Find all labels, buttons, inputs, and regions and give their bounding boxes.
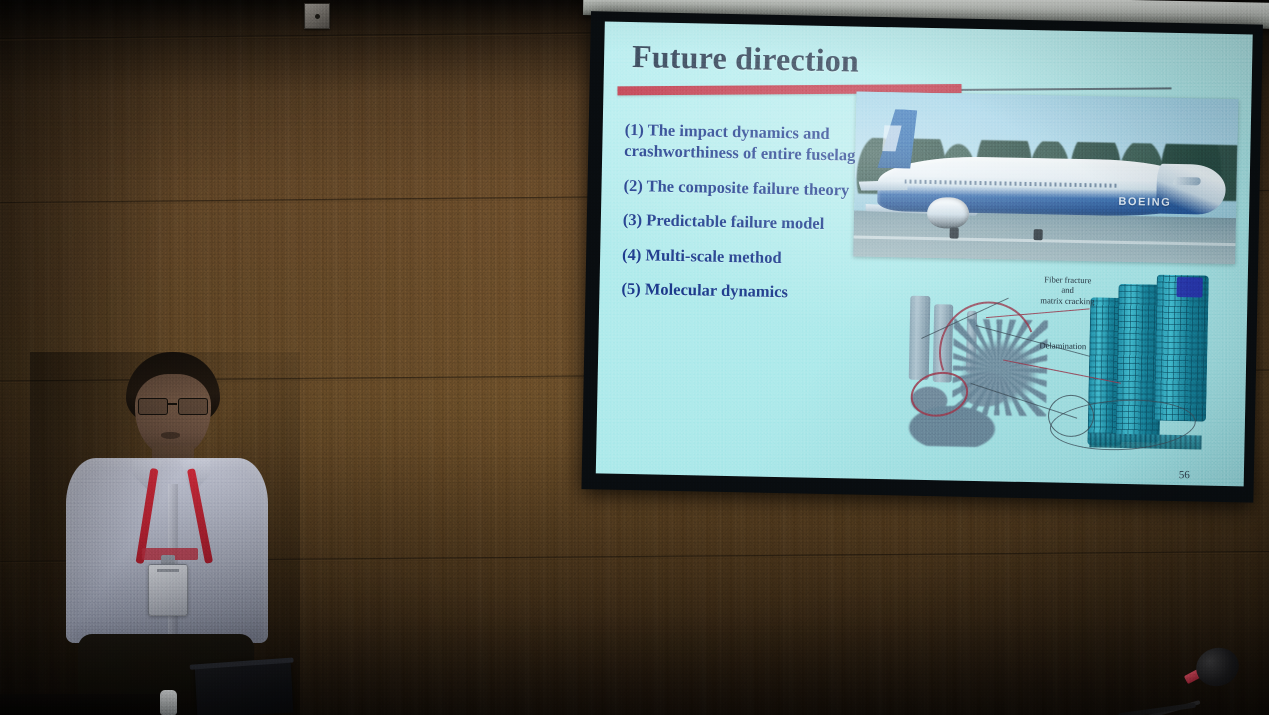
foreground-desk-shadow [0, 694, 160, 715]
presentation-slide: Future direction (1) The impact dynamics… [596, 21, 1253, 486]
annotation-delamination: Delamination [1039, 340, 1086, 351]
presenter-face [135, 374, 211, 456]
aircraft-landing-gear [949, 228, 958, 239]
slide-number: 56 [1179, 469, 1190, 481]
annotation-line: Fiber fracture [1041, 274, 1095, 286]
simulation-figure: Fiber fracture and matrix cracking Delam… [851, 265, 1243, 468]
aircraft-engine [926, 197, 969, 229]
composite-tube [909, 296, 931, 380]
presenter-mouth [161, 432, 180, 439]
aircraft-landing-gear [1033, 229, 1042, 240]
lecture-hall-scene: Future direction (1) The impact dynamics… [0, 0, 1269, 715]
slide-title: Future direction [632, 38, 860, 80]
presenter-laptop [195, 662, 294, 715]
aircraft-cockpit-window [1173, 177, 1202, 185]
annotation-line: matrix cracking [1040, 295, 1094, 307]
water-bottle [160, 690, 177, 715]
slide-bullet-list: (1) The impact dynamics and crashworthin… [621, 119, 875, 305]
aircraft-photo: BOEING [853, 92, 1238, 265]
screen-frame: Future direction (1) The impact dynamics… [581, 11, 1262, 502]
list-item: (1) The impact dynamics and crashworthin… [624, 119, 875, 167]
projection-screen: Future direction (1) The impact dynamics… [573, 0, 1269, 543]
annotation-fiber-fracture: Fiber fracture and matrix cracking [1040, 274, 1095, 307]
mesh-impactor-patch [1176, 277, 1202, 298]
list-item: (5) Molecular dynamics [621, 278, 871, 304]
wall-socket-plate-icon [304, 3, 330, 29]
list-item: (3) Predictable failure model [623, 209, 873, 235]
glasses-icon [136, 398, 210, 413]
list-item: (4) Multi-scale method [622, 244, 872, 270]
list-item: (2) The composite failure theory [623, 175, 873, 201]
boeing-logo-text: BOEING [1118, 195, 1171, 208]
glasses-bridge [167, 403, 177, 405]
